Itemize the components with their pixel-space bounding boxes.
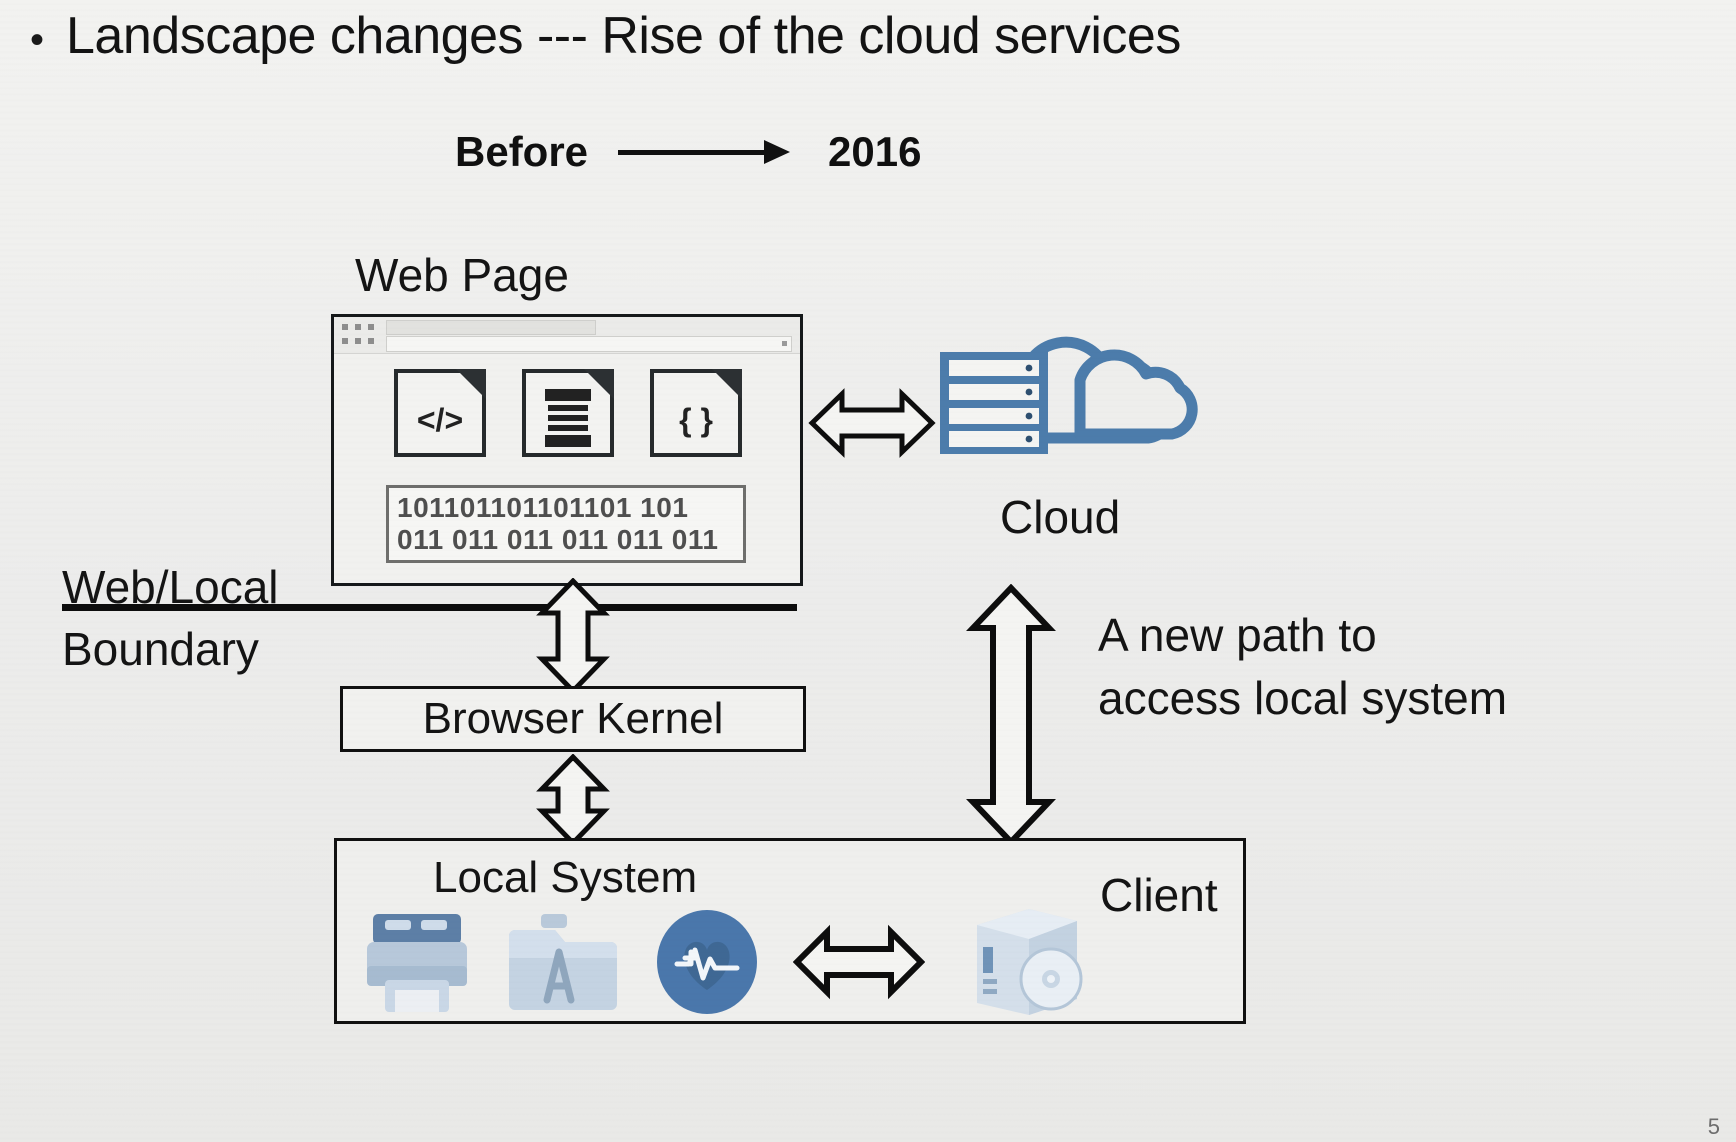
- server-rack-icon: [940, 352, 1048, 454]
- printer-icon: [359, 908, 475, 1016]
- document-icon-row: </> { }: [394, 369, 742, 457]
- json-braces-document-icon: { }: [650, 369, 742, 457]
- timeline-before-label: Before: [455, 128, 588, 176]
- web-page-label: Web Page: [355, 248, 569, 302]
- double-headed-horizontal-arrow-icon: [793, 916, 925, 1008]
- local-system-icon-row: [359, 903, 1095, 1021]
- double-headed-vertical-arrow-icon: [528, 578, 618, 694]
- local-system-label: Local System: [433, 853, 697, 903]
- local-system-box: Local System: [334, 838, 1246, 1024]
- double-headed-horizontal-arrow-icon: [808, 378, 936, 468]
- timeline-after-label: 2016: [828, 128, 921, 176]
- page-number: 5: [1708, 1114, 1720, 1140]
- new-path-annotation: A new path to access local system: [1098, 604, 1736, 731]
- new-path-annotation-line-2: access local system: [1098, 667, 1736, 730]
- client-label: Client: [1100, 868, 1218, 922]
- right-arrow-icon: [588, 132, 828, 172]
- double-headed-vertical-arrow-icon: [963, 584, 1059, 846]
- html-code-document-glyph: </>: [394, 369, 486, 457]
- browser-nav-dots: [342, 338, 374, 344]
- cloud-graphic: [930, 318, 1210, 478]
- web-local-boundary-line: [62, 604, 797, 611]
- binary-line-1: 101101101101101 101: [397, 492, 743, 524]
- browser-window: </> { } 101101101101101 101 011 011 011 …: [331, 314, 803, 586]
- browser-tab[interactable]: [386, 320, 596, 335]
- health-monitor-icon: [651, 908, 763, 1016]
- cloud-label: Cloud: [1000, 490, 1120, 544]
- new-path-annotation-line-1: A new path to: [1098, 604, 1736, 667]
- bullet-icon: •: [30, 20, 44, 60]
- json-braces-document-glyph: { }: [650, 369, 742, 457]
- double-headed-vertical-arrow-icon: [528, 754, 618, 846]
- browser-kernel-label: Browser Kernel: [423, 694, 724, 744]
- text-document-glyph: [522, 369, 614, 457]
- page-title: Landscape changes --- Rise of the cloud …: [66, 6, 1181, 66]
- browser-kernel-box: Browser Kernel: [340, 686, 806, 752]
- html-code-document-icon: </>: [394, 369, 486, 457]
- boundary-label-line-2: Boundary: [62, 622, 259, 676]
- binary-data-box: 101101101101101 101 011 011 011 011 011 …: [386, 485, 746, 563]
- software-box-cd-icon: [955, 903, 1095, 1021]
- browser-chrome-bar: [334, 317, 800, 354]
- browser-address-bar[interactable]: [386, 336, 792, 352]
- applications-folder-icon: [505, 908, 621, 1016]
- binary-line-2: 011 011 011 011 011 011: [397, 524, 743, 556]
- text-document-icon: [522, 369, 614, 457]
- browser-window-dots: [342, 324, 374, 330]
- timeline-row: Before 2016: [455, 128, 921, 176]
- slide-title-row: • Landscape changes --- Rise of the clou…: [30, 6, 1181, 66]
